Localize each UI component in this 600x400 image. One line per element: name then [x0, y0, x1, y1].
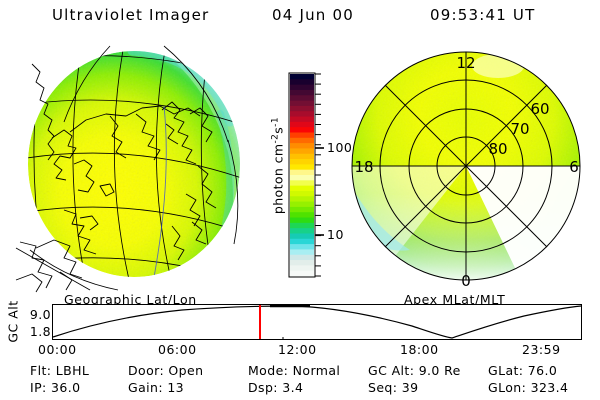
- colorbar-swatch: [290, 122, 314, 128]
- orbit-x-tick-label: 00:00: [38, 342, 77, 357]
- orbit-x-tick-label: 12:00: [278, 342, 317, 357]
- colorbar-swatch: [290, 218, 314, 224]
- bright-emission-patch: [472, 54, 524, 78]
- colorbar-swatch: [290, 132, 314, 138]
- geographic-globe-svg: [14, 44, 254, 294]
- header-bar: Ultraviolet Imager 04 Jun 00 09:53:41 UT: [0, 4, 600, 30]
- colorbar-swatch: [290, 159, 314, 165]
- mlat-label-80: 80: [488, 140, 507, 158]
- status-field: Gain: 13: [128, 380, 184, 395]
- colorbar-swatch: [290, 74, 314, 80]
- intensity-colorbar-group: photon cm-2s-1 10010: [255, 66, 347, 286]
- orbit-altitude-strip: GC Alt 9.0 1.8 00:0006:0012:0018:0023:59: [0, 300, 600, 358]
- page-title: Ultraviolet Imager: [52, 6, 209, 24]
- colorbar-swatch: [290, 79, 314, 85]
- colorbar-swatch: [290, 260, 314, 266]
- status-field: Mode: Normal: [248, 363, 340, 378]
- mlt-label-0: 0: [461, 272, 471, 290]
- status-field: GC Alt: 9.0 Re: [368, 363, 461, 378]
- current-time-marker[interactable]: [259, 305, 261, 339]
- colorbar-swatch: [290, 106, 314, 112]
- colorbar-swatch: [290, 180, 314, 186]
- status-field: GLat: 76.0: [488, 363, 557, 378]
- colorbar-swatch: [290, 239, 314, 245]
- orbit-ytick-low: 1.8: [17, 324, 51, 339]
- colorbar-svg: [255, 66, 347, 286]
- colorbar-unit-s: s: [271, 127, 286, 134]
- mlat-label-60: 60: [530, 100, 549, 118]
- mlt-label-12: 12: [456, 54, 475, 72]
- colorbar-swatch: [290, 164, 314, 170]
- status-field: GLon: 323.4: [488, 380, 568, 395]
- colorbar-unit-photon: photon cm: [271, 144, 286, 215]
- colorbar-swatch: [290, 265, 314, 271]
- geographic-image-panel: [14, 44, 254, 294]
- colorbar-swatch: [290, 202, 314, 208]
- colorbar-swatch: [290, 207, 314, 213]
- colorbar-swatch: [290, 196, 314, 202]
- status-field: Door: Open: [128, 363, 203, 378]
- colorbar-swatch: [290, 143, 314, 149]
- colorbar-swatch: [290, 117, 314, 123]
- colorbar-swatch: [290, 170, 314, 176]
- colorbar-swatch: [290, 90, 314, 96]
- colorbar-swatch: [290, 154, 314, 160]
- colorbar-ticks: [315, 74, 324, 276]
- colorbar-swatch: [290, 244, 314, 250]
- apex-polar-panel: 12 6 0 18 60 70 80: [348, 44, 592, 294]
- colorbar-unit-exp2: -1: [270, 117, 280, 127]
- colorbar-unit-exp1: -2: [270, 134, 280, 144]
- polar-grid-apex: [352, 52, 580, 280]
- colorbar-swatch: [290, 101, 314, 107]
- orbit-x-tick-label: 23:59: [522, 342, 561, 357]
- status-field: IP: 36.0: [30, 380, 80, 395]
- colorbar-swatch: [290, 271, 314, 277]
- colorbar-swatch: [290, 186, 314, 192]
- colorbar-swatch: [290, 138, 314, 144]
- colorbar-swatch: [290, 191, 314, 197]
- apex-polar-svg: 12 6 0 18 60 70 80: [348, 44, 592, 294]
- colorbar-axis-label: photon cm-2s-1: [270, 96, 285, 236]
- mlat-label-70: 70: [510, 120, 529, 138]
- mlt-label-6: 6: [569, 158, 579, 176]
- colorbar-swatch: [290, 148, 314, 154]
- colorbar-swatch: [290, 175, 314, 181]
- colorbar-swatch: [290, 223, 314, 229]
- colorbar-swatches: [290, 74, 314, 277]
- observation-time: 09:53:41 UT: [430, 6, 535, 24]
- colorbar-swatch: [290, 95, 314, 101]
- colorbar-tick-label: 100: [327, 140, 352, 155]
- colorbar-swatch: [290, 233, 314, 239]
- colorbar-swatch: [290, 127, 314, 133]
- colorbar-swatch: [290, 249, 314, 255]
- status-field: Flt: LBHL: [30, 363, 89, 378]
- status-field: Seq: 39: [368, 380, 418, 395]
- observation-date: 04 Jun 00: [272, 6, 354, 24]
- colorbar-swatch: [290, 228, 314, 234]
- mlt-label-18: 18: [354, 158, 373, 176]
- colorbar-swatch: [290, 212, 314, 218]
- colorbar-swatch: [290, 85, 314, 91]
- orbit-x-tick-label: 18:00: [400, 342, 439, 357]
- orbit-x-tick-label: 06:00: [158, 342, 197, 357]
- colorbar-swatch: [290, 255, 314, 261]
- status-footer: Flt: LBHLDoor: OpenMode: NormalGC Alt: 9…: [0, 362, 600, 398]
- orbit-plot-svg[interactable]: [52, 304, 582, 340]
- colorbar-tick-label: 10: [327, 227, 344, 242]
- colorbar-swatch: [290, 111, 314, 117]
- status-field: Dsp: 3.4: [248, 380, 303, 395]
- orbit-ytick-high: 9.0: [17, 307, 51, 322]
